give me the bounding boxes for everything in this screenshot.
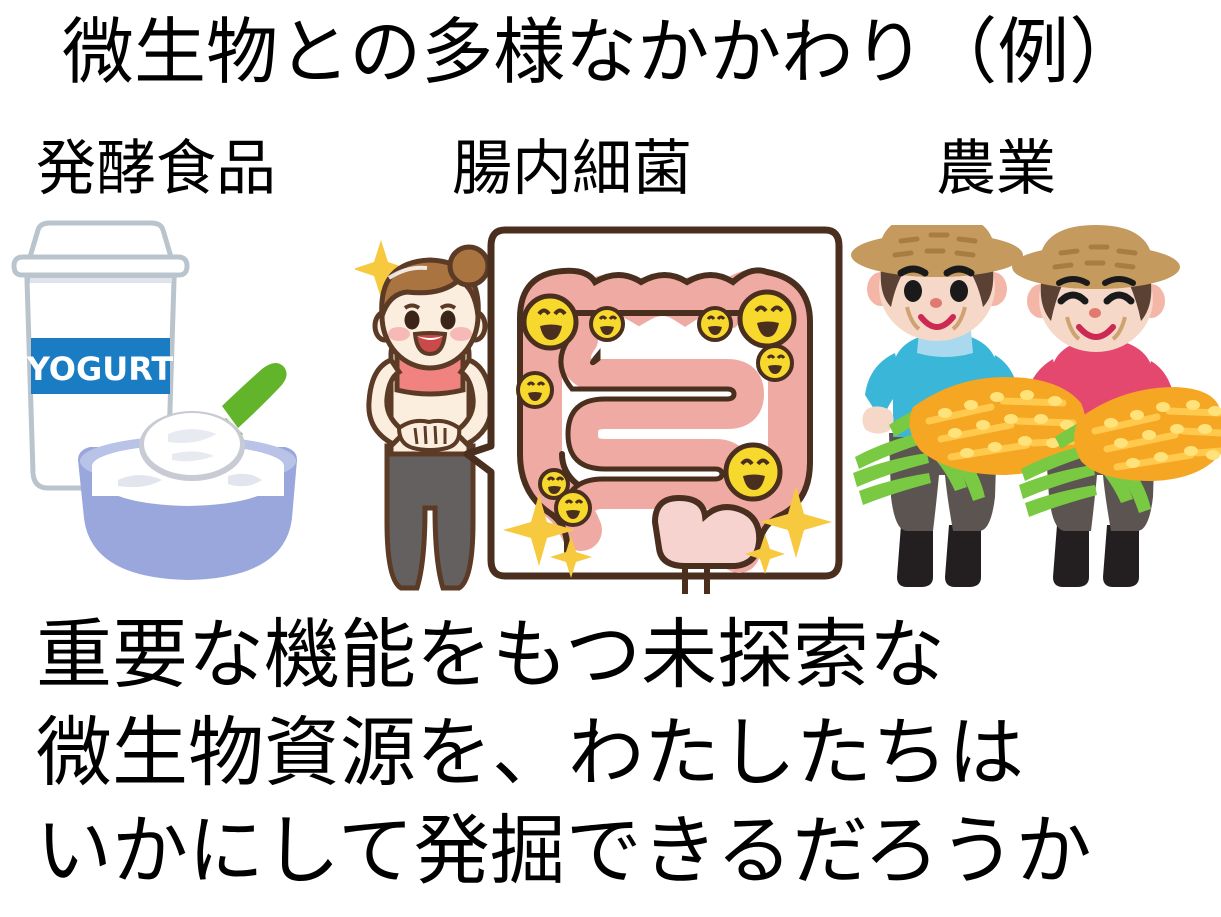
category-label-agriculture: 農業 bbox=[936, 131, 1056, 207]
illustration-gut-bacteria bbox=[355, 222, 845, 594]
page-title: 微生物との多様なかかわり（例） bbox=[62, 8, 1182, 96]
bacteria-smiley-icon bbox=[740, 292, 794, 346]
bacteria-smiley-icon bbox=[524, 296, 576, 348]
bacteria-smiley-icon bbox=[726, 445, 780, 499]
woman-figure bbox=[369, 247, 491, 588]
hair-bun bbox=[450, 247, 488, 285]
bacteria-smiley-icon bbox=[556, 491, 590, 525]
yogurt-label-text: YOGURT bbox=[26, 350, 174, 388]
illustration-agriculture bbox=[845, 225, 1221, 597]
bacteria-smiley-icon bbox=[758, 346, 792, 380]
illustration-fermented-food: YOGURT bbox=[0, 218, 350, 596]
slide-canvas: 微生物との多様なかかわり（例） 発酵食品 腸内細菌 農業 YOGURT bbox=[0, 0, 1221, 917]
closing-message-line-3: いかにして発掘できるだろうか bbox=[36, 808, 1092, 894]
bacteria-smiley-icon bbox=[699, 308, 731, 340]
category-label-gut-bacteria: 腸内細菌 bbox=[452, 131, 692, 207]
bacteria-smiley-icon bbox=[591, 308, 623, 340]
category-label-fermented-food: 発酵食品 bbox=[36, 131, 276, 207]
closing-message-line-2: 微生物資源を、わたしたちは bbox=[36, 710, 1024, 796]
bacteria-smiley-icon bbox=[518, 373, 552, 407]
closing-message-line-1: 重要な機能をもつ未探索な bbox=[36, 612, 945, 698]
